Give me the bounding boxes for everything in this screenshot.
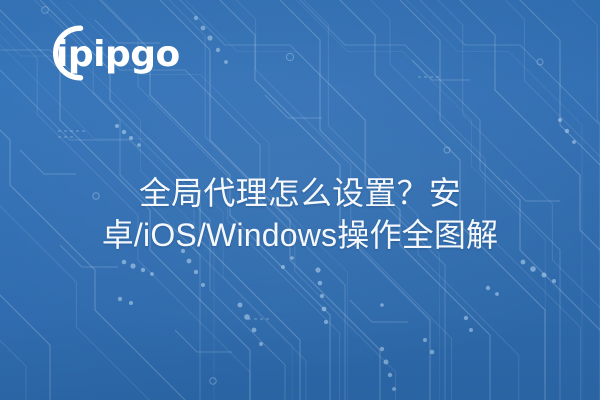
page-title: 全局代理怎么设置？安卓/iOS/Windows操作全图解 <box>42 173 558 256</box>
brand-logo[interactable]: ipipgo <box>30 14 230 92</box>
article-cover-banner: ipipgo 全局代理怎么设置？安卓/iOS/Windows操作全图解 <box>0 0 600 400</box>
logo-mark-icon: ipipgo <box>30 14 230 92</box>
svg-text:ipipgo: ipipgo <box>56 34 180 75</box>
